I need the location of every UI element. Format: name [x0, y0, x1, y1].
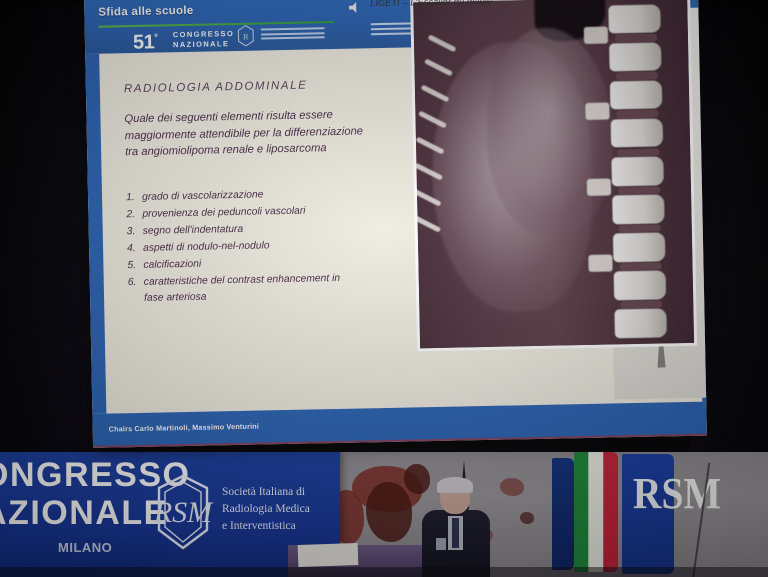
slide-congress-label: CONGRESSO NAZIONALE — [173, 29, 235, 49]
svg-text:RSM: RSM — [153, 496, 214, 529]
projection-screen: Sfida alle scuole 51° CONGRESSO NAZIONAL… — [84, 0, 707, 448]
sirm-logo-icon: RSM — [150, 474, 216, 550]
slide-campaign-title: Sfida alle scuole — [98, 5, 193, 19]
slide-section-title: RADIOLOGIA ADDOMINALE — [124, 80, 308, 96]
auditorium-photo: Sfida alle scuole 51° CONGRESSO NAZIONAL… — [0, 0, 768, 577]
slide-question-text: Quale dei seguenti elementi risulta esse… — [124, 106, 393, 161]
now-playing-title: LIGETI – L'Escalier du diable — [370, 0, 492, 8]
footer-accent-rule — [93, 434, 707, 448]
svg-text:R: R — [243, 32, 249, 41]
ct-sagittal-abdomen-scan — [413, 0, 694, 348]
banner-city: MILANO — [58, 540, 112, 555]
podium-speaker — [420, 480, 496, 577]
answer-options-list: 1.grado di vascolarizzazione 2.provenien… — [126, 185, 400, 309]
header-society-text — [261, 27, 325, 42]
stage-area: ONGRESSO AZIONALE MILANO RSM Società Ita… — [0, 452, 768, 577]
eu-flag — [552, 458, 574, 570]
ct-scan-frame — [410, 0, 697, 351]
banner-line-2: AZIONALE — [0, 494, 168, 533]
stage-floor-shadow — [0, 567, 768, 577]
question-card: RADIOLOGIA ADDOMINALE Quale dei seguenti… — [101, 52, 410, 410]
podium-papers — [298, 543, 359, 567]
sirm-logo-icon: R — [235, 25, 257, 47]
society-name: Società Italiana di Radiologia Medica e … — [222, 484, 310, 535]
spine-vertebrae — [591, 0, 669, 345]
slide-surface: Sfida alle scuole 51° CONGRESSO NAZIONAL… — [84, 0, 707, 448]
speaker-icon[interactable] — [348, 1, 362, 13]
italian-flag — [574, 452, 618, 572]
slide-edition-number: 51° — [133, 29, 158, 53]
blue-congress-flag: RSM — [622, 454, 674, 574]
rib-shadows — [425, 35, 518, 279]
slide-chairs-credit: Chairs Carlo Martinoli, Massimo Venturin… — [109, 422, 260, 434]
